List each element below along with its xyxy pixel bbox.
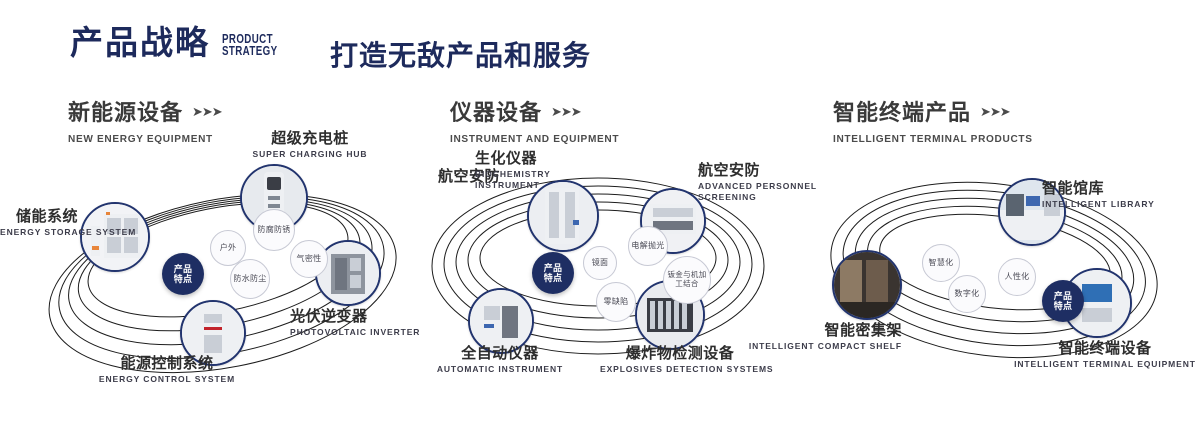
feature-label: 防腐防锈 — [255, 225, 292, 234]
chevron-right-icon: ➤➤➤ — [192, 105, 222, 118]
caption-cn: 能源控制系统 — [82, 355, 252, 372]
core-bubble-product-features[interactable]: 产品 特点 — [162, 253, 204, 295]
automatic-instrument-photo — [470, 290, 532, 352]
section-title-cn: 新能源设备 — [68, 95, 183, 127]
caption-cn: 智能密集架 — [742, 322, 902, 339]
caption-super-charging-hub: 超级充电桩 SUPER CHARGING HUB — [250, 130, 370, 160]
caption-en: ENERGY CONTROL SYSTEM — [82, 374, 252, 385]
caption-en: ENERGY STORAGE SYSTEM — [0, 227, 78, 238]
caption-cn: 航空安防 — [698, 162, 828, 179]
section-title-intelligent-terminal: 智能终端产品 ➤➤➤ INTELLIGENT TERMINAL PRODUCTS — [833, 95, 1041, 145]
biochemistry-instrument-photo — [529, 182, 597, 250]
caption-cn: 智能终端设备 — [1010, 340, 1200, 357]
page-subtitle: 打造无敌产品和服务 — [330, 34, 591, 74]
feature-label: 智慧化 — [927, 258, 956, 267]
feature-label: 钣金与机加工结合 — [664, 271, 710, 288]
feature-label: 零缺陷 — [602, 297, 631, 306]
caption-en: INTELLIGENT LIBRARY — [1042, 199, 1192, 210]
feature-label: 户外 — [218, 243, 239, 252]
feature-bubble-smart[interactable]: 智慧化 — [922, 244, 960, 282]
feature-bubble-sheet-metal[interactable]: 钣金与机加工结合 — [663, 256, 711, 304]
caption-cn: 生化仪器 — [475, 150, 585, 167]
page-title-en-line2: STRATEGY — [222, 45, 277, 57]
core-bubble-line1: 产品 — [544, 263, 563, 273]
feature-bubble-waterproof[interactable]: 防水防尘 — [230, 259, 270, 299]
intelligent-compact-shelf-photo — [834, 252, 900, 318]
feature-label: 防水防尘 — [231, 274, 268, 283]
section-title-instrument: 仪器设备 ➤➤➤ INSTRUMENT AND EQUIPMENT — [450, 95, 626, 145]
caption-intelligent-compact-shelf: 智能密集架 INTELLIGENT COMPACT SHELF — [742, 322, 902, 352]
energy-storage-photo — [82, 204, 148, 270]
feature-label: 数字化 — [953, 289, 982, 298]
caption-en: INTELLIGENT TERMINAL EQUIPMENT — [1010, 359, 1200, 370]
chevron-right-icon: ➤➤➤ — [980, 105, 1010, 118]
caption-cn: 超级充电桩 — [250, 130, 370, 147]
caption-cn: 爆炸物检测设备 — [600, 345, 760, 362]
core-bubble-line1: 产品 — [174, 264, 193, 274]
caption-automatic-instrument: 全自动仪器 AUTOMATIC INSTRUMENT — [435, 345, 565, 375]
core-bubble-line2: 特点 — [544, 273, 563, 283]
feature-bubble-airtight[interactable]: 气密性 — [290, 240, 328, 278]
caption-en: INTELLIGENT COMPACT SHELF — [742, 341, 902, 352]
caption-cn: 全自动仪器 — [435, 345, 565, 362]
feature-bubble-electropolish[interactable]: 电解抛光 — [628, 226, 668, 266]
caption-en: ADVANCED PERSONNEL SCREENING — [698, 181, 828, 202]
caption-personnel-screening: 航空安防 ADVANCED PERSONNEL SCREENING — [698, 162, 828, 203]
orbit-diagram-intelligent-terminal: 智能馆库 INTELLIGENT LIBRARY 智能密集架 INTELLIGE… — [810, 140, 1200, 410]
chevron-right-icon: ➤➤➤ — [551, 105, 581, 118]
page-title-cn: 产品战略 — [70, 26, 210, 59]
core-bubble-line1: 产品 — [1054, 291, 1073, 301]
core-bubble-line2: 特点 — [174, 274, 193, 284]
core-bubble-product-features[interactable]: 产品 特点 — [1042, 280, 1084, 322]
page-title-en: PRODUCT STRATEGY — [222, 33, 277, 57]
caption-cn: 储能系统 — [0, 208, 78, 225]
caption-en: AUTOMATIC INSTRUMENT — [435, 364, 565, 375]
feature-label: 人性化 — [1003, 272, 1032, 281]
feature-label: 气密性 — [295, 254, 324, 263]
caption-energy-control-system: 能源控制系统 ENERGY CONTROL SYSTEM — [82, 355, 252, 385]
section-title-cn: 仪器设备 — [450, 95, 542, 127]
node-energy-storage-system[interactable] — [80, 202, 150, 272]
caption-explosives-detection: 爆炸物检测设备 EXPLOSIVES DETECTION SYSTEMS — [600, 345, 760, 375]
caption-intelligent-terminal-equipment: 智能终端设备 INTELLIGENT TERMINAL EQUIPMENT — [1010, 340, 1200, 370]
node-biochemistry-instrument[interactable] — [527, 180, 599, 252]
caption-energy-storage-system: 储能系统 ENERGY STORAGE SYSTEM — [0, 208, 78, 238]
caption-intelligent-library: 智能馆库 INTELLIGENT LIBRARY — [1042, 180, 1192, 210]
section-title-cn: 智能终端产品 — [833, 95, 971, 127]
orbit-diagram-instrument: 航空安防 生化仪器 BIOCHEMISTRY INSTRUMENT 航空安防 A… — [420, 140, 800, 410]
page-title: 产品战略 PRODUCT STRATEGY — [70, 26, 293, 59]
caption-cn: 智能馆库 — [1042, 180, 1192, 197]
core-bubble-line2: 特点 — [1054, 301, 1073, 311]
orbit-diagram-new-energy: 储能系统 ENERGY STORAGE SYSTEM 超级充电桩 SUPER C… — [40, 140, 420, 410]
caption-en: EXPLOSIVES DETECTION SYSTEMS — [600, 364, 760, 375]
core-bubble-product-features[interactable]: 产品 特点 — [532, 252, 574, 294]
feature-bubble-mirror[interactable]: 镜面 — [583, 246, 617, 280]
feature-label: 镜面 — [590, 258, 611, 267]
caption-en: SUPER CHARGING HUB — [250, 149, 370, 160]
feature-bubble-zero-defect[interactable]: 零缺陷 — [596, 282, 636, 322]
feature-bubble-humanized[interactable]: 人性化 — [998, 258, 1036, 296]
caption-en: BIOCHEMISTRY INSTRUMENT — [475, 169, 585, 190]
poster-canvas: 产品战略 PRODUCT STRATEGY 打造无敌产品和服务 新能源设备 ➤➤… — [0, 0, 1200, 422]
caption-biochemistry-instrument: 生化仪器 BIOCHEMISTRY INSTRUMENT — [475, 150, 585, 191]
feature-bubble-anticorrosion[interactable]: 防腐防锈 — [253, 209, 295, 251]
node-intelligent-compact-shelf[interactable] — [832, 250, 902, 320]
feature-label: 电解抛光 — [629, 241, 666, 250]
feature-bubble-digital[interactable]: 数字化 — [948, 275, 986, 313]
section-title-new-energy: 新能源设备 ➤➤➤ NEW ENERGY EQUIPMENT — [68, 95, 222, 145]
